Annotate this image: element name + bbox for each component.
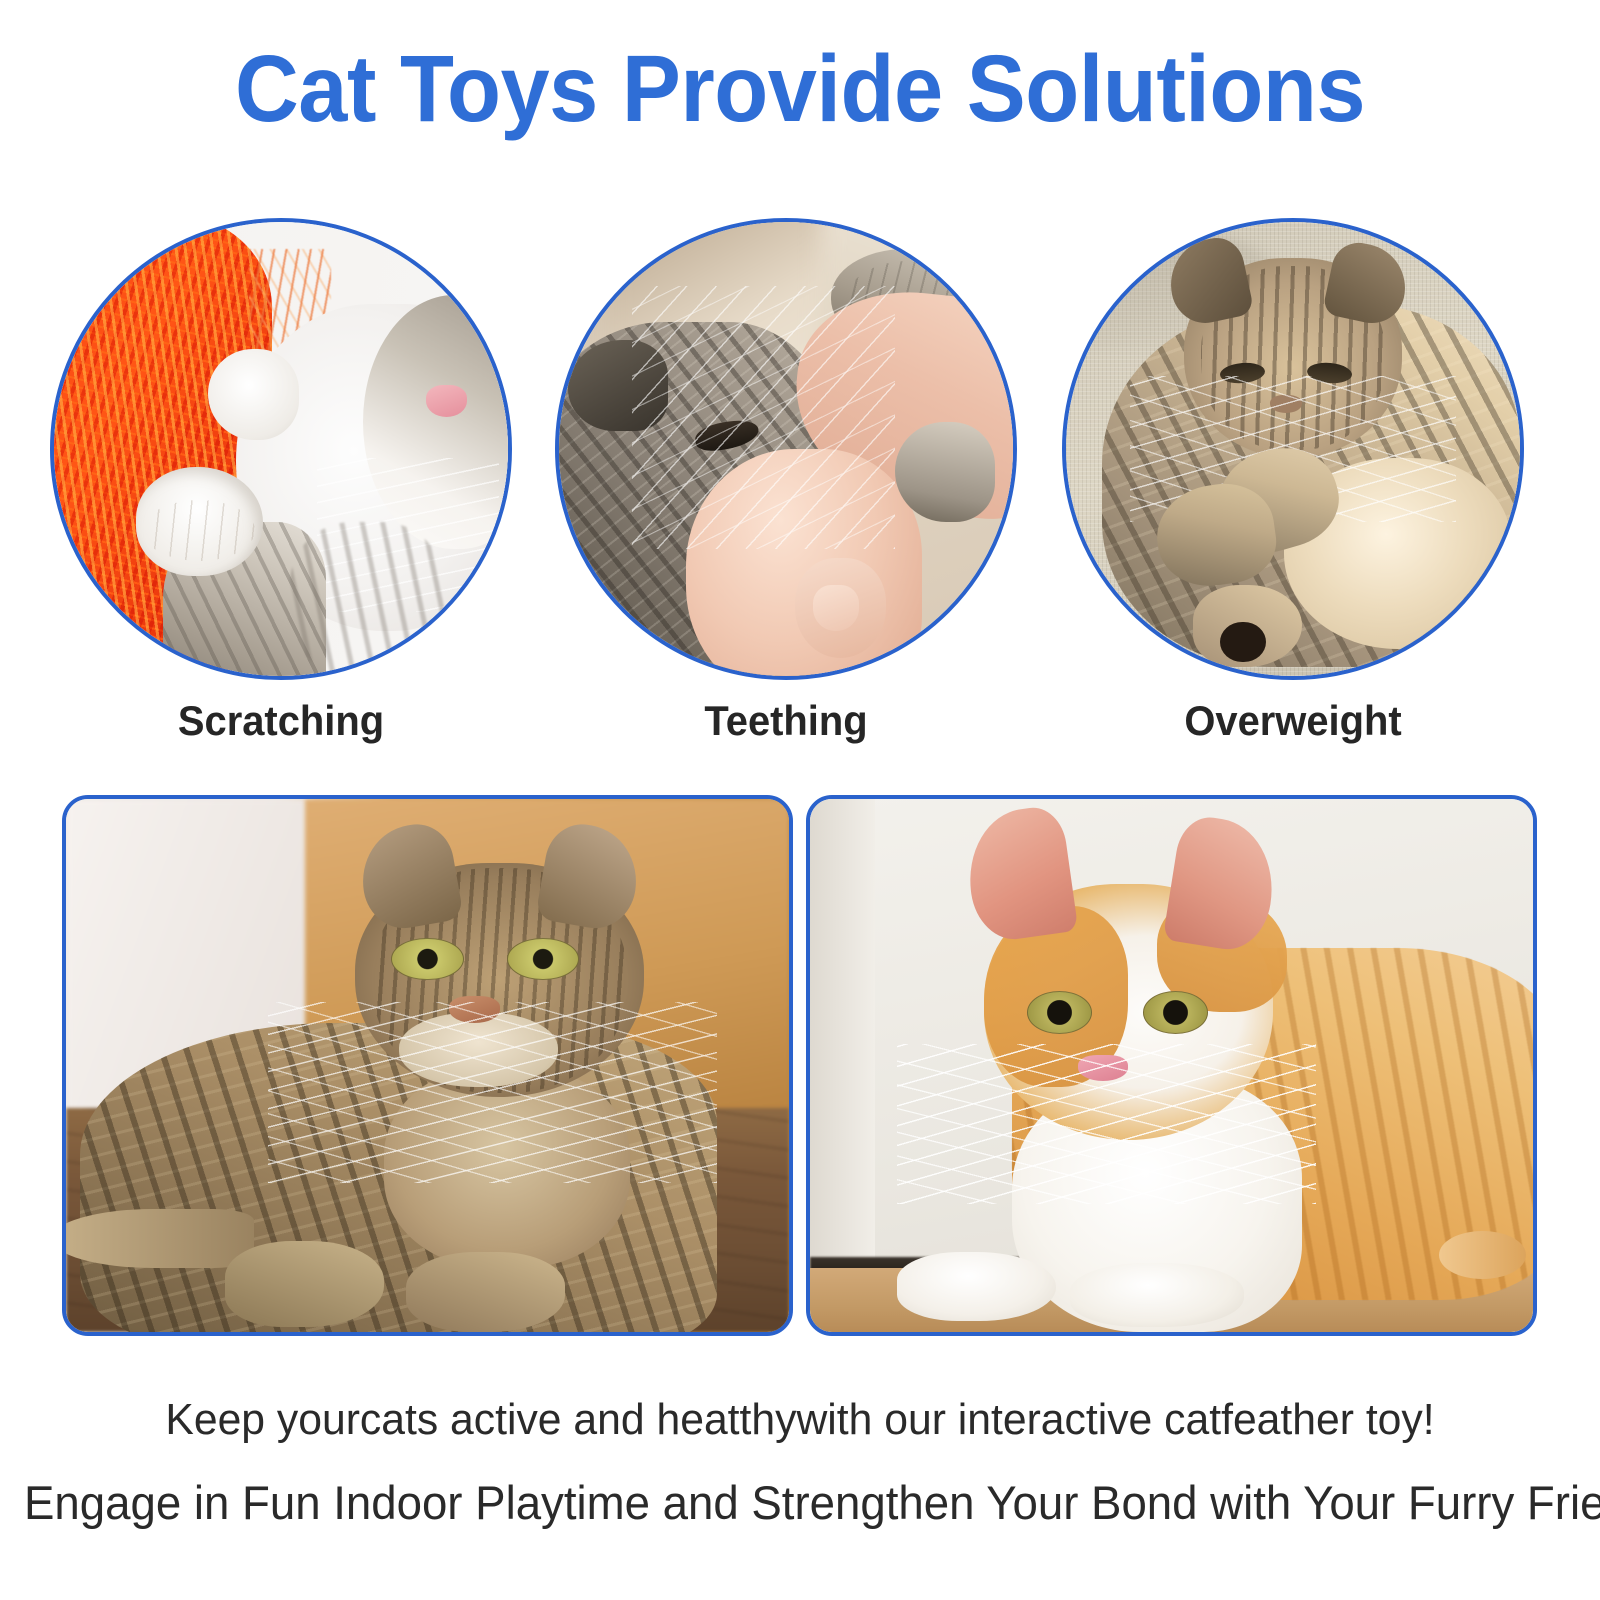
problem-card-teething[interactable]: Teething — [555, 218, 1021, 758]
circle-photo-overweight — [1066, 222, 1520, 676]
cat-left-eye — [391, 938, 463, 981]
page-title: Cat Toys Provide Solutions — [56, 34, 1544, 144]
thumbnail — [813, 585, 858, 630]
circle-photo-frame — [555, 218, 1017, 680]
cat-whiskers — [897, 1044, 1316, 1204]
cat-right-paw — [406, 1252, 565, 1332]
feature-photo-left[interactable] — [62, 795, 793, 1336]
photo-orange-white-cat — [810, 799, 1533, 1332]
cat-left-paw — [225, 1241, 384, 1326]
problem-card-label-overweight: Overweight — [1074, 696, 1513, 746]
cat-whiskers — [268, 1002, 716, 1183]
cat-tail-tip — [1439, 1231, 1526, 1279]
cat-right-eye — [1143, 991, 1208, 1034]
teething-scene — [559, 222, 1013, 676]
cat-left-paw — [897, 1252, 1056, 1321]
circle-photo-scratching — [54, 222, 508, 676]
problem-card-label-teething: Teething — [567, 696, 1006, 746]
cat-lower-paw — [895, 422, 995, 522]
feature-photo-row — [0, 795, 1600, 1340]
problem-card-scratching[interactable]: Scratching — [50, 218, 516, 758]
cat-left-ear — [961, 803, 1079, 944]
feature-photo-right[interactable] — [806, 795, 1537, 1336]
cat-left-eye — [1027, 991, 1092, 1034]
footer-copy: Keep yourcats active and heatthywith our… — [0, 1390, 1600, 1534]
cat-right-paw — [1070, 1263, 1244, 1327]
cat-right-eye — [507, 938, 579, 981]
orange-cat-scene — [810, 799, 1533, 1332]
infographic-page: Cat Toys Provide Solutions — [0, 0, 1600, 1600]
tabby-floor-scene — [66, 799, 789, 1332]
photo-overweight-tabby — [66, 799, 789, 1332]
cat-tail — [66, 1209, 254, 1268]
wall-corner-seam — [810, 799, 875, 1300]
cat-lower-paw — [136, 467, 263, 576]
problem-card-row: Scratching — [0, 218, 1600, 758]
cat-chest-stripes — [290, 522, 444, 676]
circle-photo-frame — [50, 218, 512, 680]
cat-whiskers — [632, 286, 895, 549]
problem-card-overweight[interactable]: Overweight — [1062, 218, 1528, 758]
circle-photo-frame — [1062, 218, 1524, 680]
overweight-scene — [1066, 222, 1520, 676]
cat-upper-paw — [208, 349, 299, 440]
circle-photo-teething — [559, 222, 1013, 676]
scratching-scene — [54, 222, 508, 676]
cat-paw-pad — [1220, 622, 1265, 663]
footer-line-1: Keep yourcats active and heatthywith our… — [24, 1390, 1576, 1450]
problem-card-label-scratching: Scratching — [62, 696, 501, 746]
footer-line-2: Engage in Fun Indoor Playtime and Streng… — [24, 1472, 1576, 1534]
